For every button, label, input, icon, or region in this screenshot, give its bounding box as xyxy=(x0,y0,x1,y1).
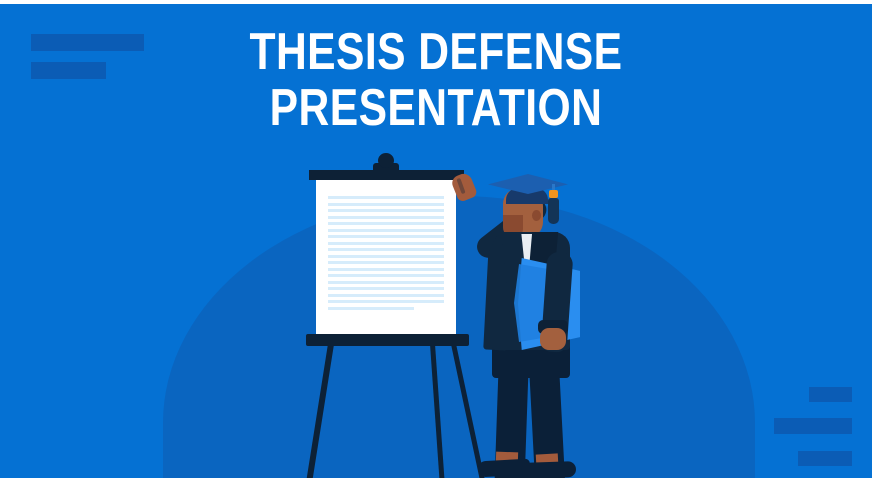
text-line xyxy=(328,281,444,284)
slide-title-line-1: THESIS DEFENSE xyxy=(78,24,793,80)
text-line xyxy=(328,216,444,219)
slide-title-line-2: PRESENTATION xyxy=(78,80,793,136)
slide-title: THESIS DEFENSE PRESENTATION xyxy=(0,24,872,136)
slide-edge-strip-top xyxy=(0,0,872,4)
text-line xyxy=(328,242,444,245)
easel-leg-left xyxy=(283,344,334,478)
person-hand-raised xyxy=(450,171,478,203)
text-line xyxy=(328,222,444,225)
text-line xyxy=(328,229,444,232)
text-line xyxy=(328,248,444,251)
easel-knob xyxy=(378,153,394,168)
slide-canvas: THESIS DEFENSE PRESENTATION xyxy=(0,0,872,478)
text-line xyxy=(328,287,444,290)
text-line xyxy=(328,268,444,271)
person-hand-holding-folder xyxy=(540,328,566,350)
text-line xyxy=(328,294,444,297)
graduation-cap-tassel xyxy=(548,198,559,224)
text-line xyxy=(328,300,444,303)
text-line xyxy=(328,255,444,258)
text-line xyxy=(328,261,444,264)
whiteboard-text-lines xyxy=(328,196,444,314)
text-line xyxy=(328,203,444,206)
graduation-cap-tassel-button xyxy=(549,190,558,198)
text-line xyxy=(328,274,444,277)
person-shoe-right xyxy=(522,461,577,478)
text-line xyxy=(328,209,444,212)
text-line xyxy=(328,235,444,238)
text-line-last xyxy=(328,307,414,310)
graduate-presenter xyxy=(440,160,620,478)
text-line xyxy=(328,196,444,199)
person-ear xyxy=(532,210,541,221)
